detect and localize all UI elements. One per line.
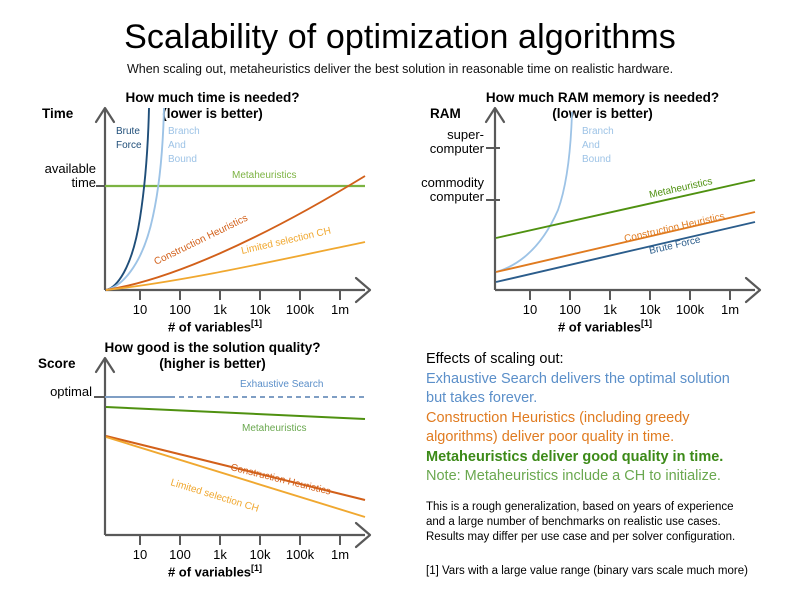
- x-tick-label-1k: 1k: [213, 302, 227, 317]
- series-label-metaheuristics: Metaheuristics: [242, 423, 306, 434]
- series-label-brute-force-line2: Force: [116, 140, 142, 151]
- disclaimer-line-3: Results may differ per use case and per …: [426, 530, 796, 545]
- chart-ram-xaxis-name: # of variables[1]: [455, 318, 755, 334]
- x-tick-label-1k: 1k: [213, 547, 227, 562]
- series-label-branch-and-bound-line2: And: [582, 140, 600, 151]
- x-tick-label-10k: 10k: [640, 302, 661, 317]
- x-tick-label-10: 10: [133, 302, 147, 317]
- x-tick-label-10: 10: [133, 547, 147, 562]
- x-tick-label-100k: 100k: [676, 302, 704, 317]
- series-label-branch-and-bound-line3: Bound: [582, 154, 611, 165]
- x-tick-label-1k: 1k: [603, 302, 617, 317]
- x-axis-ticks: [530, 290, 730, 300]
- chart-score-xaxis-name: # of variables[1]: [65, 563, 365, 579]
- disclaimer-block: This is a rough generalization, based on…: [426, 500, 796, 545]
- x-tick-label-10k: 10k: [250, 547, 271, 562]
- page-title: Scalability of optimization algorithms: [0, 18, 800, 57]
- series-label-branch-and-bound-line2: And: [168, 140, 186, 151]
- x-axis-ticks: [140, 290, 340, 300]
- effects-heading: Effects of scaling out:: [426, 350, 796, 370]
- disclaimer-line-2: and a large number of benchmarks on real…: [426, 515, 796, 530]
- effects-line-metaheuristics: Metaheuristics deliver good quality in t…: [426, 448, 796, 468]
- series-curve-branch-and-bound: [496, 112, 572, 272]
- x-tick-label-1m: 1m: [331, 302, 349, 317]
- series-label-brute-force-line1: Brute: [116, 126, 140, 137]
- series-line-metaheuristics: [496, 180, 755, 238]
- chart-time: How much time is needed? (lower is bette…: [20, 90, 405, 325]
- effects-line-construction-1: Construction Heuristics (including greed…: [426, 409, 796, 429]
- chart-time-plot: Metaheuristics Construction Heuristics L…: [20, 90, 405, 325]
- series-line-metaheuristics: [106, 407, 365, 419]
- disclaimer-line-1: This is a rough generalization, based on…: [426, 500, 796, 515]
- x-tick-label-10: 10: [523, 302, 537, 317]
- series-line-brute-force: [496, 222, 755, 282]
- x-tick-label-100: 100: [169, 547, 191, 562]
- series-label-exhaustive-search: Exhaustive Search: [240, 379, 323, 390]
- series-label-branch-and-bound-line1: Branch: [582, 126, 614, 137]
- effects-line-exhaustive-1: Exhaustive Search delivers the optimal s…: [426, 370, 796, 390]
- chart-score-plot: Exhaustive Search Metaheuristics Constru…: [20, 335, 405, 580]
- series-label-construction-heuristics: Construction Heuristics: [152, 213, 249, 268]
- x-axis-ticks: [140, 535, 340, 545]
- footnote-text: [1] Vars with a large value range (binar…: [426, 564, 796, 579]
- x-tick-label-1m: 1m: [331, 547, 349, 562]
- chart-score: How good is the solution quality? (highe…: [20, 335, 405, 580]
- series-label-metaheuristics: Metaheuristics: [232, 170, 296, 181]
- effects-panel: Effects of scaling out: Exhaustive Searc…: [426, 350, 796, 487]
- effects-line-note: Note: Metaheuristics include a CH to ini…: [426, 467, 796, 487]
- series-curve-limited-selection-ch: [106, 242, 365, 290]
- effects-line-exhaustive-2: but takes forever.: [426, 389, 796, 409]
- chart-ram: How much RAM memory is needed? (lower is…: [410, 90, 795, 325]
- x-tick-label-100k: 100k: [286, 547, 314, 562]
- x-tick-label-10k: 10k: [250, 302, 271, 317]
- infographic-page: Scalability of optimization algorithms W…: [0, 0, 800, 600]
- x-tick-label-1m: 1m: [721, 302, 739, 317]
- x-tick-label-100k: 100k: [286, 302, 314, 317]
- series-label-branch-and-bound-line3: Bound: [168, 154, 197, 165]
- x-tick-label-100: 100: [169, 302, 191, 317]
- chart-ram-plot: Branch And Bound Metaheuristics Construc…: [410, 90, 795, 325]
- page-subtitle: When scaling out, metaheuristics deliver…: [0, 62, 800, 76]
- chart-time-xaxis-name: # of variables[1]: [65, 318, 365, 334]
- x-tick-label-100: 100: [559, 302, 581, 317]
- effects-line-construction-2: algorithms) deliver poor quality in time…: [426, 428, 796, 448]
- series-label-limited-selection-ch: Limited selection CH: [169, 477, 260, 514]
- series-label-branch-and-bound-line1: Branch: [168, 126, 200, 137]
